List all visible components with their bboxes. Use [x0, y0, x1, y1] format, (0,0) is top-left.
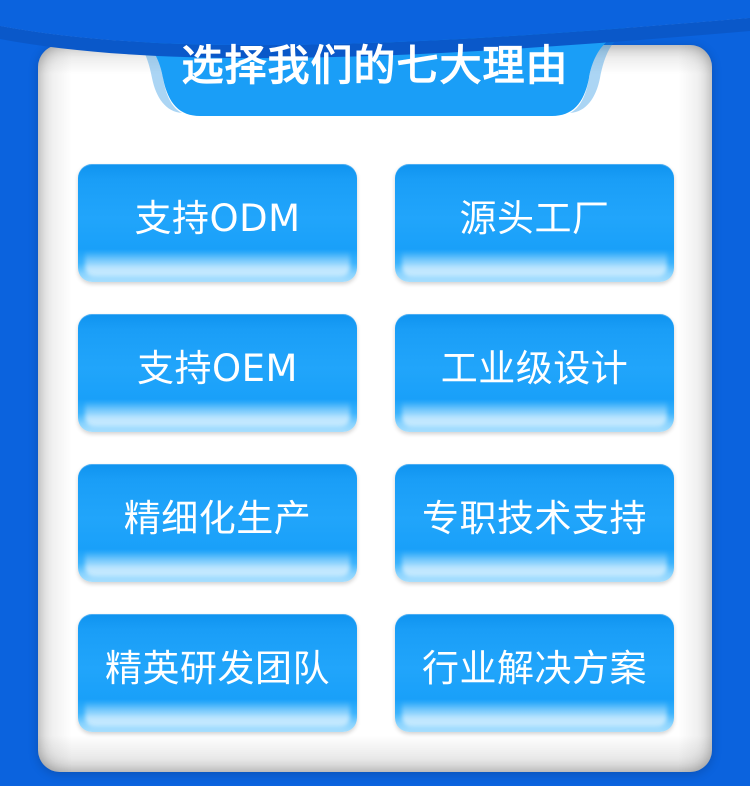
reason-label: 精细化生产 — [124, 497, 312, 541]
reasons-grid: 支持ODM 源头工厂 支持OEM 工业级设计 精细化生产 专职技术支持 精英研发… — [78, 164, 674, 732]
reason-label: 工业级设计 — [441, 347, 629, 391]
reason-button-8[interactable]: 行业解决方案 — [395, 614, 674, 732]
reason-label: 行业解决方案 — [422, 647, 647, 691]
reason-button-3[interactable]: 支持OEM — [78, 314, 357, 432]
reason-button-4[interactable]: 工业级设计 — [395, 314, 674, 432]
reason-label: 支持OEM — [137, 347, 298, 391]
reason-button-1[interactable]: 支持ODM — [78, 164, 357, 282]
reason-button-5[interactable]: 精细化生产 — [78, 464, 357, 582]
reason-label: 支持ODM — [134, 197, 300, 241]
reason-button-7[interactable]: 精英研发团队 — [78, 614, 357, 732]
reason-button-6[interactable]: 专职技术支持 — [395, 464, 674, 582]
reason-label: 源头工厂 — [460, 197, 610, 241]
reason-label: 专职技术支持 — [422, 497, 647, 541]
reason-label: 精英研发团队 — [105, 647, 330, 691]
promo-banner-page: 选择我们的七大理由 支持ODM 源头工厂 支持OEM 工业级设计 精细化生产 专… — [0, 0, 750, 786]
reason-button-2[interactable]: 源头工厂 — [395, 164, 674, 282]
